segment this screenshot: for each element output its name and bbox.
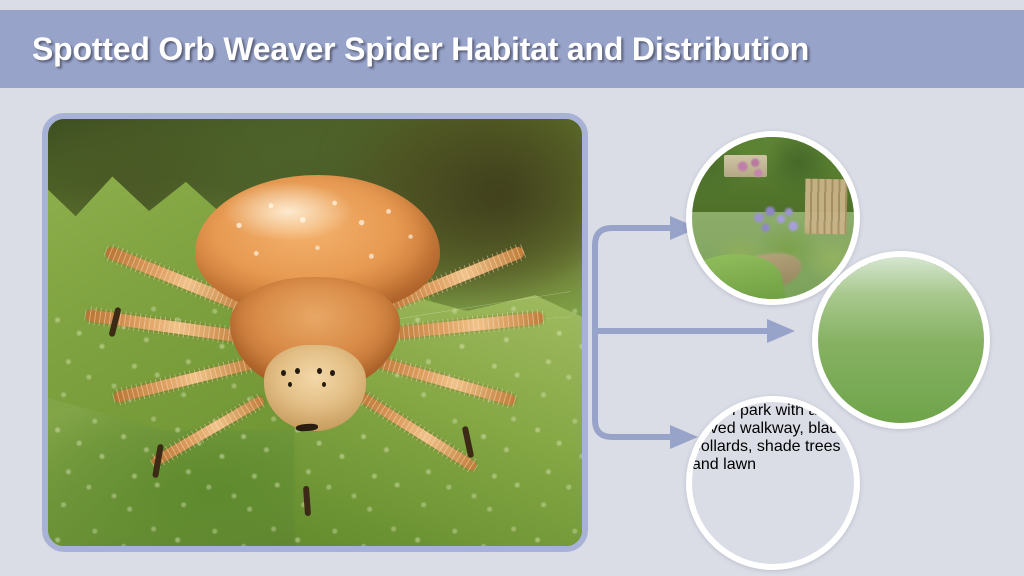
spider-leg-right-3 [370,355,517,407]
spider-leg-left-3 [113,358,256,404]
park-scene [692,402,854,564]
spider-eye [295,368,300,374]
woodland-scene [818,257,984,423]
spider-eye [281,370,286,376]
garden-purple-flowers [747,202,802,241]
spider-tarsus-3 [303,486,311,516]
garden-pink-flowers [731,156,770,182]
arrow-to-park-line [595,331,672,437]
spider-leg-left-4 [150,395,266,468]
spider-head [264,345,365,430]
title-banner: Spotted Orb Weaver Spider Habitat and Di… [0,10,1024,88]
page-title: Spotted Orb Weaver Spider Habitat and Di… [0,31,809,68]
spider-photo-frame[interactable]: Close-up of an orange spotted orb weaver… [42,113,588,552]
spider-body [48,119,582,546]
spider-leg-left-2 [85,309,245,343]
spider-chelicerae [296,424,318,433]
woodland-canopy [818,257,984,360]
spider-eye [317,368,322,374]
arrow-to-garden-line [595,228,672,331]
spotted-orb-weaver-spider-photo [48,119,582,546]
spider-leg-right-2 [384,311,545,340]
urban-park-habitat[interactable]: Urban park with a paved walkway, black b… [686,396,860,570]
spider-leg-right-4 [355,390,478,472]
arrow-to-woodland-head [767,319,795,343]
